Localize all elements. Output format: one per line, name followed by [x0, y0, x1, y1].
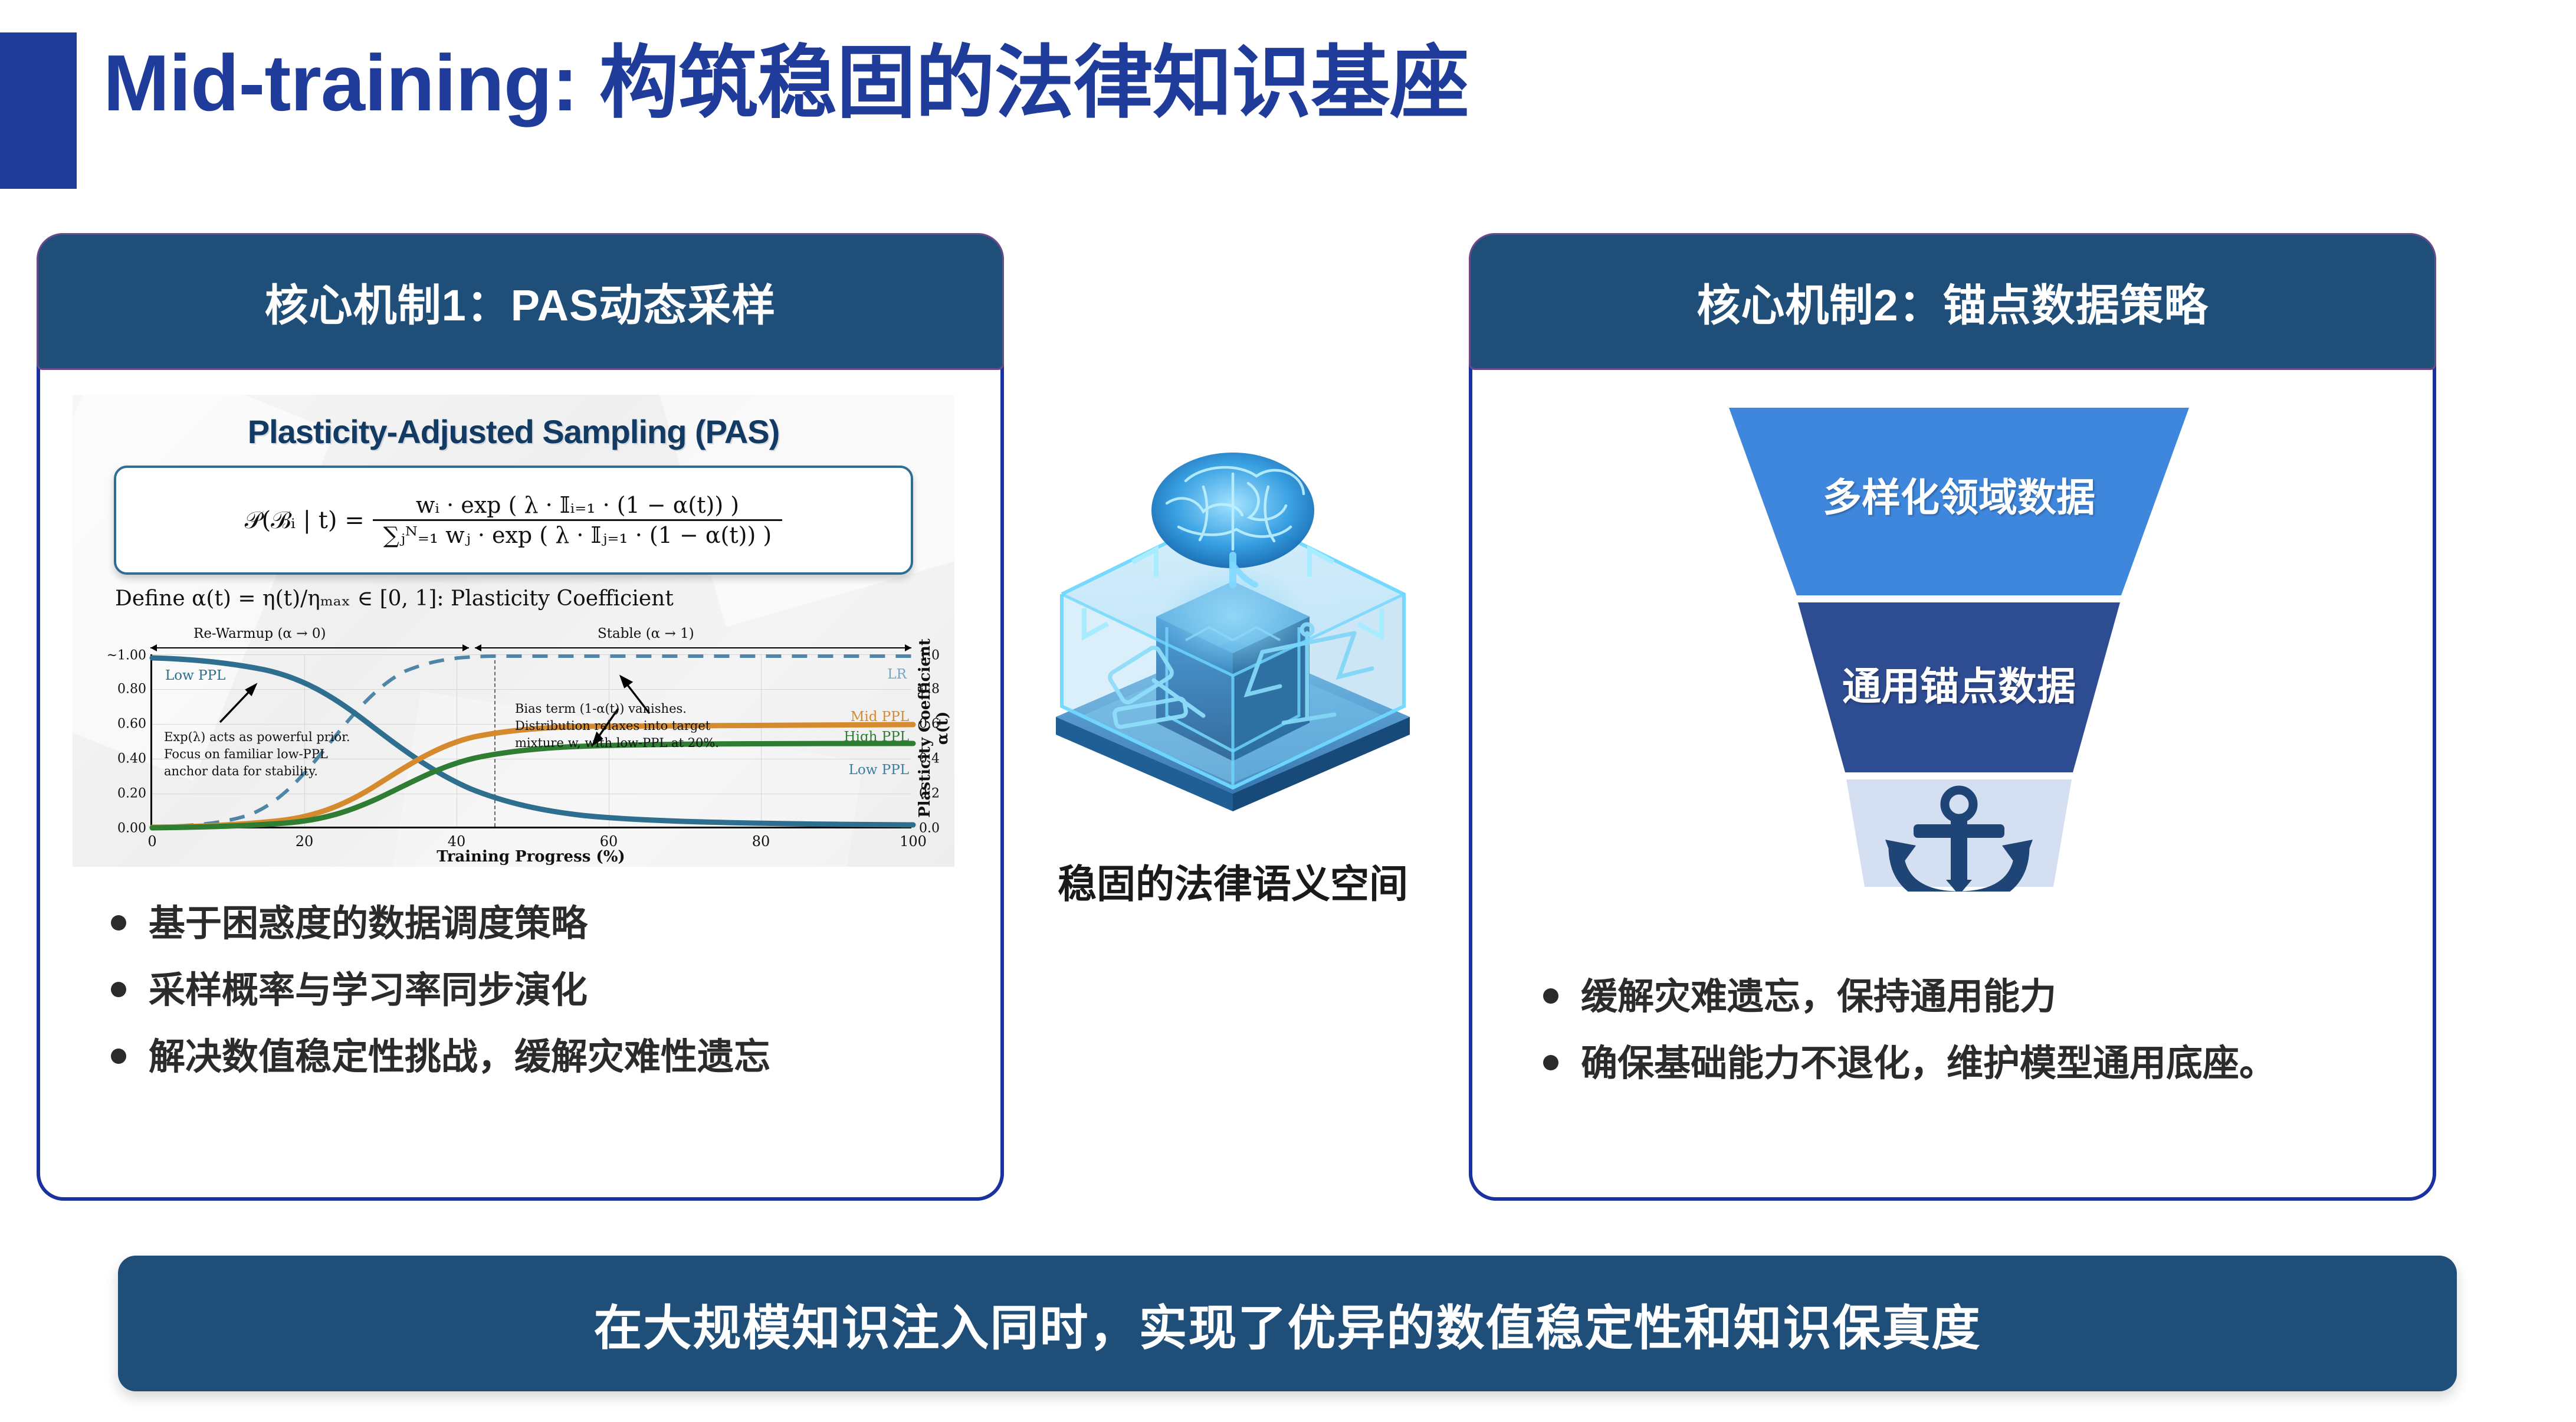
pas-chart: Re-Warmup (α → 0) Stable (α → 1) Samplin… — [78, 625, 949, 861]
phase-label-rewarmup: Re-Warmup (α → 0) — [193, 626, 326, 641]
x-tick: 80 — [752, 833, 770, 850]
formula-numerator: wᵢ · exp ( λ · 𝕀ᵢ₌₁ · (1 − α(t)) ) — [405, 491, 750, 519]
card-header-left: 核心机制1：PAS动态采样 — [37, 233, 1004, 370]
formula-denominator: ∑ⱼᴺ₌₁ wⱼ · exp ( λ · 𝕀ⱼ₌₁ · (1 − α(t)) ) — [373, 521, 782, 549]
series-label-low-ppl-top: Low PPL — [165, 668, 225, 683]
y-tick-right: 0.2 — [919, 787, 940, 801]
phase-arrow-rewarmup — [150, 647, 469, 648]
y-tick-left: 0.40 — [117, 752, 146, 766]
bullet-label: 基于困惑度的数据调度策略 — [149, 902, 588, 945]
card-header-right-title: 核心机制2：锚点数据策略 — [1696, 270, 2208, 333]
series-label-high-ppl: High PPL — [844, 729, 910, 745]
funnel-label-2-wrap: 通用锚点数据 — [1708, 651, 2210, 716]
anchor-data-funnel: 多样化领域数据 通用锚点数据 — [1708, 408, 2210, 892]
chart-annotation-right: Bias term (1-α(t)) vanishes. Distributio… — [515, 700, 719, 752]
y-tick-right: 0.6 — [919, 717, 940, 732]
y-tick-left: 0.60 — [117, 717, 146, 732]
chart-annotation-left: Exp(λ) acts as powerful prior. Focus on … — [164, 729, 350, 780]
funnel-label-2: 通用锚点数据 — [1842, 655, 2076, 712]
y-tick-left: 0.00 — [117, 821, 146, 836]
bullet-dot-icon — [1543, 988, 1558, 1004]
holographic-legal-brain-cube-icon — [1009, 440, 1457, 853]
x-axis-label: Training Progress (%) — [150, 848, 911, 866]
card-core-mechanism-2: 核心机制2：锚点数据策略 多样化领域数据 通用锚点数据 — [1469, 233, 2436, 1201]
list-item: 缓解灾难遗忘，保持通用能力 — [1543, 975, 2276, 1018]
bullet-label: 解决数值稳定性挑战，缓解灾难性遗忘 — [149, 1036, 770, 1079]
list-item: 解决数值稳定性挑战，缓解灾难性遗忘 — [111, 1036, 770, 1079]
x-tick: 0 — [147, 833, 156, 850]
pas-figure: Plasticity-Adjusted Sampling (PAS) 𝒫(ℬᵢ … — [73, 395, 954, 867]
bullet-label: 缓解灾难遗忘，保持通用能力 — [1581, 975, 2056, 1018]
series-label-lr: LR — [887, 667, 907, 682]
right-card-bullet-list: 缓解灾难遗忘，保持通用能力 确保基础能力不退化，维护模型通用底座。 — [1543, 975, 2276, 1109]
y-tick-right: 0.4 — [919, 752, 940, 766]
x-tick: 20 — [296, 833, 314, 850]
pas-figure-title: Plasticity-Adjusted Sampling (PAS) — [73, 412, 954, 451]
summary-banner-text: 在大规模知识注入同时，实现了优异的数值稳定性和知识保真度 — [593, 1289, 1981, 1359]
phase-arrow-stable — [475, 647, 911, 648]
card-header-right: 核心机制2：锚点数据策略 — [1469, 233, 2436, 370]
x-tick: 60 — [600, 833, 618, 850]
funnel-label-1: 多样化领域数据 — [1823, 466, 2095, 523]
list-item: 确保基础能力不退化，维护模型通用底座。 — [1543, 1042, 2276, 1085]
list-item: 基于困惑度的数据调度策略 — [111, 902, 770, 945]
phase-label-stable: Stable (α → 1) — [598, 626, 694, 641]
bullet-dot-icon — [111, 915, 126, 930]
x-tick: 40 — [448, 833, 466, 850]
title-accent-bar — [0, 32, 77, 189]
formula-lhs: 𝒫(ℬᵢ | t) = — [245, 507, 365, 534]
card-header-left-title: 核心机制1：PAS动态采样 — [265, 270, 776, 333]
bullet-label: 采样概率与学习率同步演化 — [149, 969, 588, 1012]
funnel-label-1-wrap: 多样化领域数据 — [1708, 462, 2210, 527]
y-tick-right: 0.8 — [919, 682, 940, 697]
series-label-mid-ppl: Mid PPL — [851, 709, 909, 725]
y-tick-left: 0.80 — [117, 682, 146, 697]
bullet-label: 确保基础能力不退化，维护模型通用底座。 — [1581, 1042, 2276, 1085]
summary-banner: 在大规模知识注入同时，实现了优异的数值稳定性和知识保真度 — [118, 1256, 2457, 1391]
list-item: 采样概率与学习率同步演化 — [111, 969, 770, 1012]
pas-define-line: Define α(t) = η(t)/ηₘₐₓ ∈ [0, 1]: Plasti… — [115, 587, 674, 611]
center-visual: 稳固的法律语义空间 — [1009, 440, 1457, 947]
y-tick-left: ~1.00 — [107, 648, 146, 663]
page-title: Mid-training: 构筑稳固的法律知识基座 — [103, 34, 1469, 133]
y-tick-left: 0.20 — [117, 787, 146, 801]
plot-area: 0.00 0.20 0.40 0.60 0.80 ~1.00 0.0 0.2 0… — [150, 654, 911, 828]
center-visual-caption: 稳固的法律语义空间 — [973, 853, 1492, 909]
y-tick-right: 1.0 — [919, 648, 940, 663]
bullet-dot-icon — [111, 1049, 126, 1064]
x-tick: 100 — [900, 833, 927, 850]
bullet-dot-icon — [1543, 1055, 1558, 1070]
left-card-bullet-list: 基于困惑度的数据调度策略 采样概率与学习率同步演化 解决数值稳定性挑战，缓解灾难… — [111, 902, 770, 1102]
pas-formula-box: 𝒫(ℬᵢ | t) = wᵢ · exp ( λ · 𝕀ᵢ₌₁ · (1 − α… — [114, 466, 913, 575]
slide-header: Mid-training: 构筑稳固的法律知识基座 — [0, 21, 2576, 180]
bullet-dot-icon — [111, 982, 126, 997]
series-label-low-ppl: Low PPL — [849, 762, 909, 778]
card-core-mechanism-1: 核心机制1：PAS动态采样 Plasticity-Adjusted Sampli… — [37, 233, 1004, 1201]
